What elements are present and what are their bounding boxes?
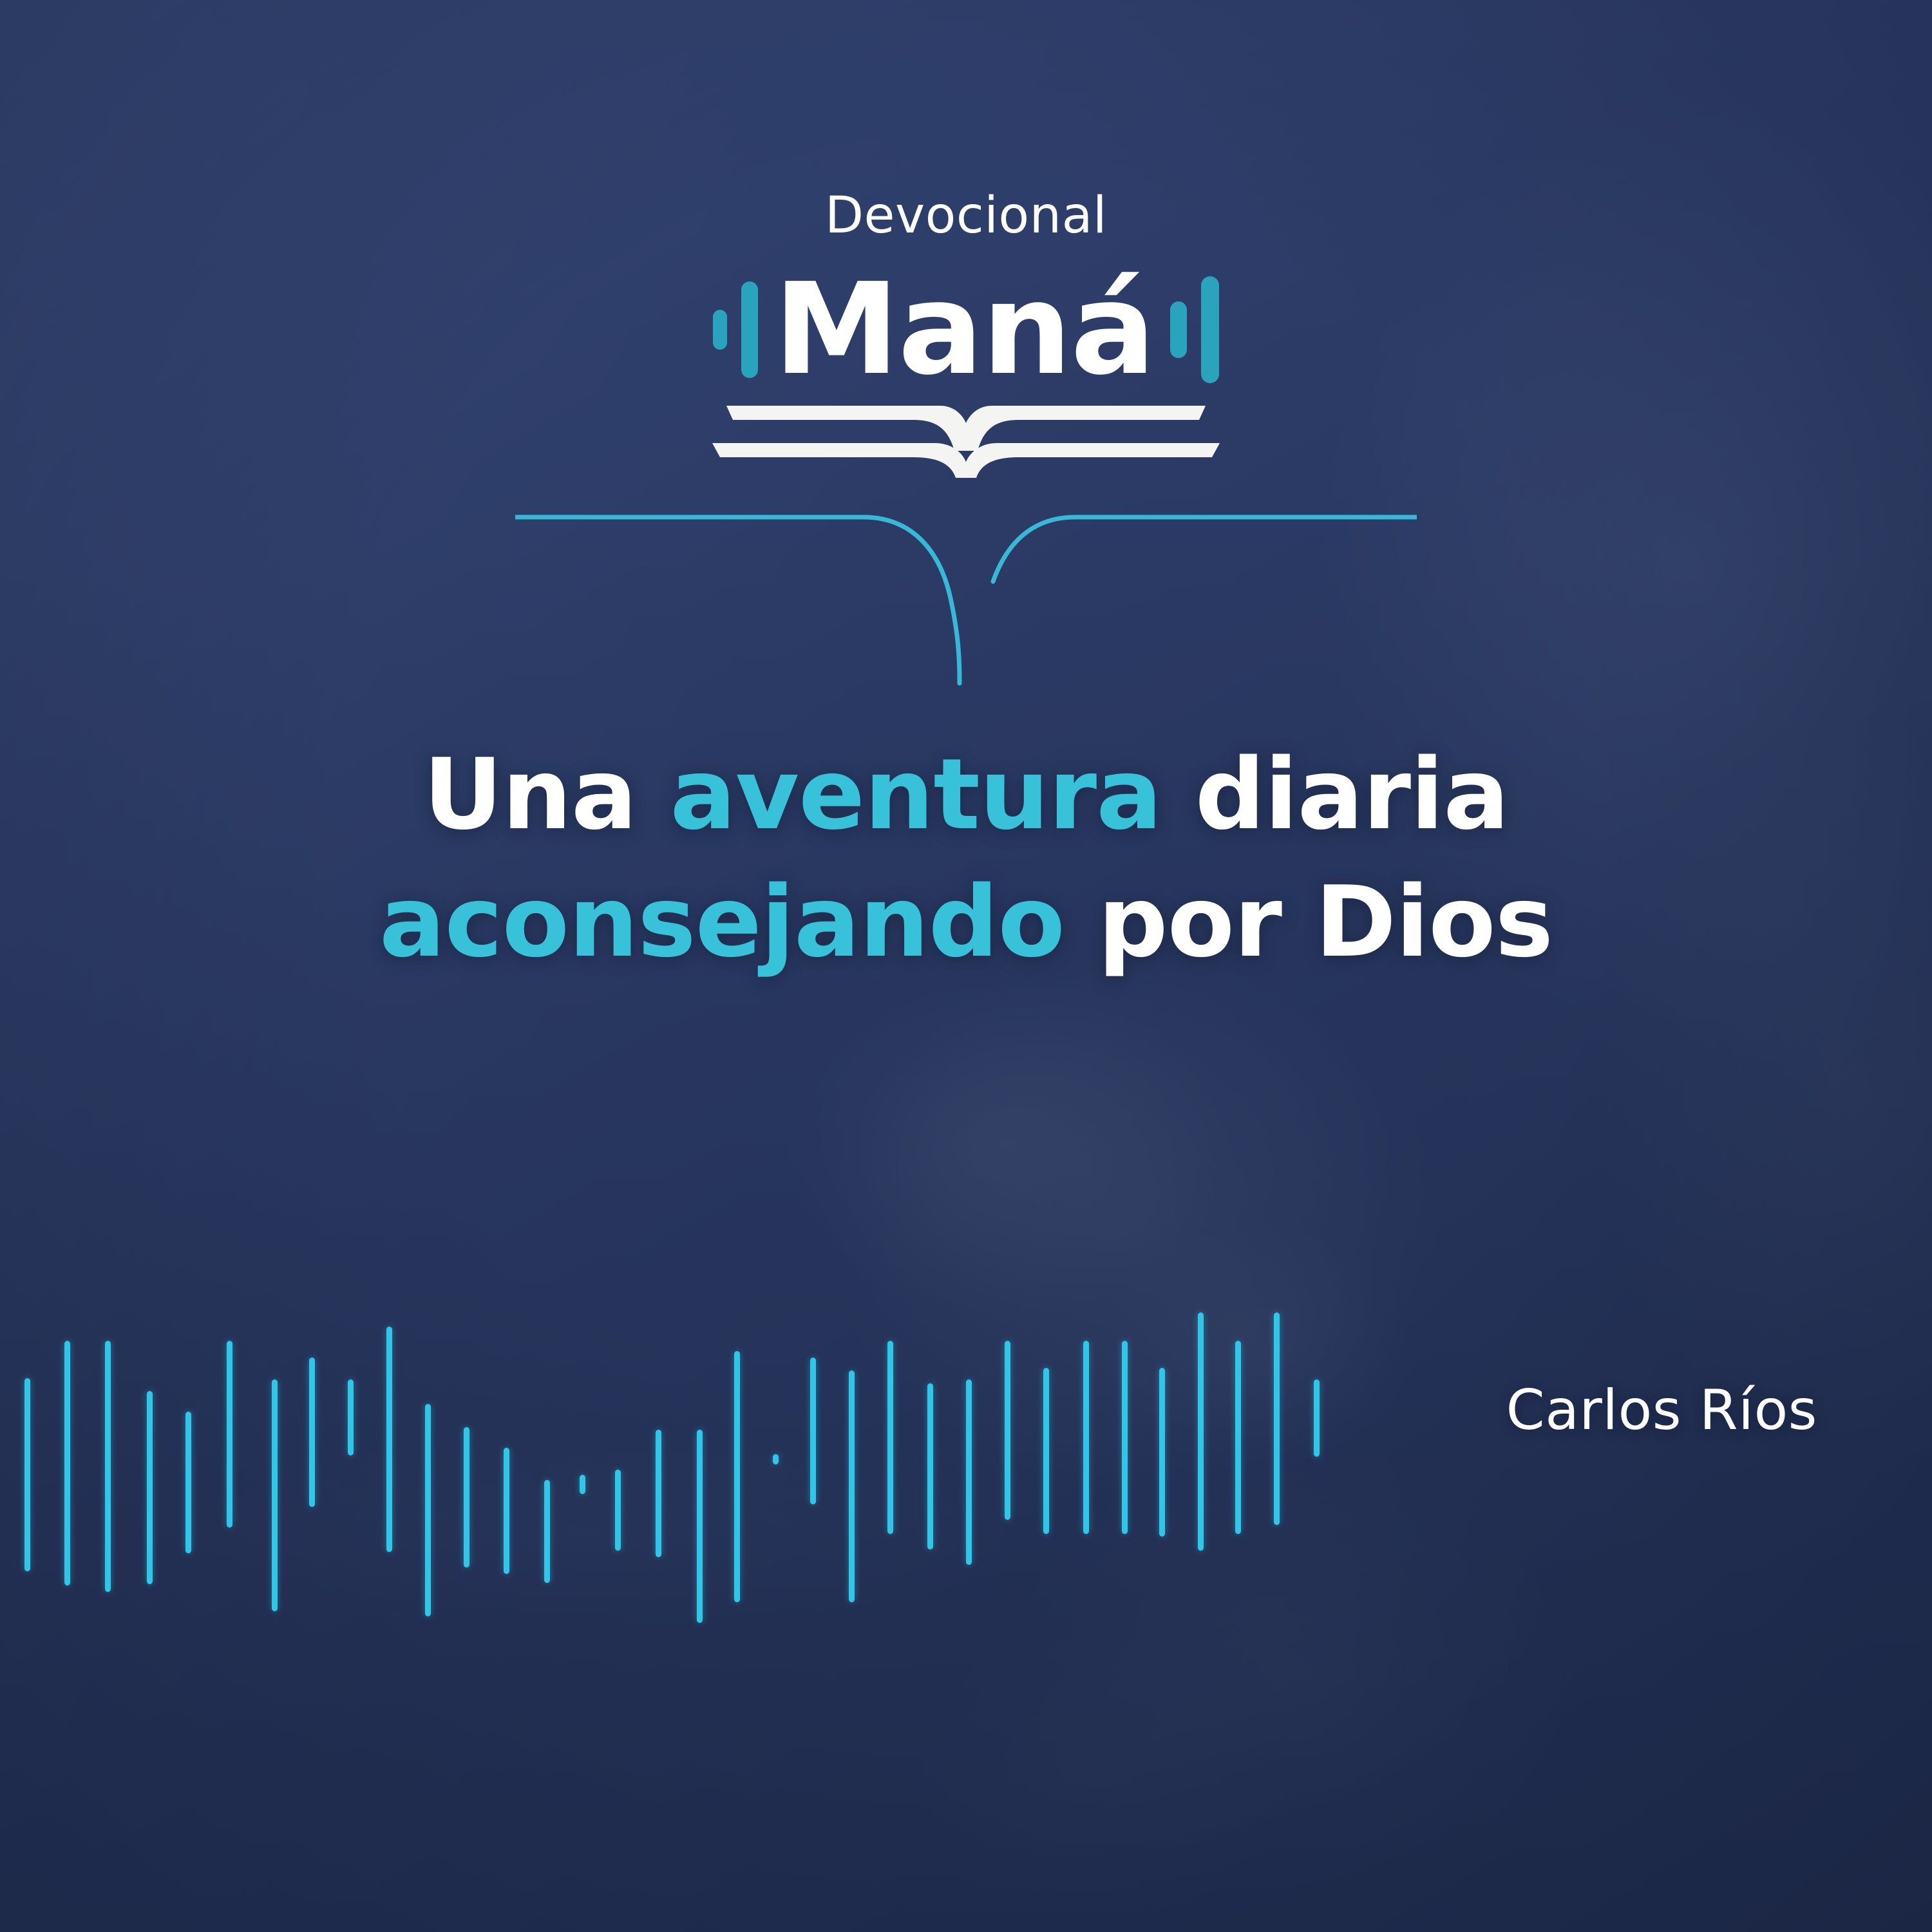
waveform-bar [24, 1378, 30, 1571]
waveform-bar [425, 1404, 431, 1616]
waveform-bar [1235, 1341, 1241, 1534]
waveform-bar [1159, 1368, 1165, 1537]
waveform-bar [1314, 1379, 1320, 1457]
waveform-bar [464, 1427, 469, 1567]
equalizer-bar-icon [741, 281, 758, 378]
waveform-bar [1005, 1341, 1010, 1520]
waveform-bar [966, 1379, 972, 1565]
headline-line-2: aconsejando por Dios [0, 858, 1932, 986]
podcast-cover-poster: Devocional Maná [0, 0, 1932, 1932]
waveform-bar [1043, 1368, 1049, 1534]
headline-word-diaria: diaria [1162, 737, 1509, 851]
waveform-bar [504, 1448, 509, 1574]
waveform-bar [927, 1383, 933, 1549]
waveform-bar [309, 1358, 315, 1507]
headline-accent-aconsejando: aconsejando [379, 865, 1065, 979]
waveform-bar [1198, 1312, 1204, 1551]
waveform-bar [105, 1341, 111, 1592]
headline-accent-aventura: aventura [670, 737, 1161, 851]
brand-kicker: Devocional [0, 191, 1932, 241]
equalizer-bar-icon [713, 310, 727, 350]
waveform-bar [734, 1351, 740, 1602]
waveform-bar [544, 1480, 550, 1583]
waveform-bar [1122, 1341, 1128, 1534]
waveform-bar [272, 1379, 278, 1611]
waveform-bar [810, 1358, 816, 1504]
brand-logo: Devocional Maná [0, 191, 1932, 497]
waveform-bar [348, 1379, 354, 1455]
waveform-bar [773, 1454, 779, 1464]
waveform-bar [1274, 1312, 1280, 1525]
waveform-bar [580, 1475, 585, 1494]
headline-line-1: Una aventura diaria [0, 731, 1932, 858]
waveform-bar [386, 1327, 392, 1552]
waveform-bar [185, 1412, 191, 1553]
author-name: Carlos Ríos [1506, 1378, 1817, 1443]
waveform-bar [697, 1430, 703, 1623]
brand-wordmark: Maná [773, 273, 1154, 386]
audio-waveform-icon [0, 1301, 1391, 1636]
waveform-bar [656, 1430, 661, 1557]
headline-word-por-dios: por Dios [1065, 865, 1553, 979]
open-book-icon [0, 401, 1932, 497]
waveform-bar [615, 1470, 621, 1551]
curved-divider-icon [515, 512, 1417, 686]
headline-word-una: Una [423, 737, 670, 851]
waveform-bar [64, 1341, 70, 1586]
waveform-bar [849, 1370, 855, 1602]
page-title: Una aventura diaria aconsejando por Dios [0, 731, 1932, 985]
equalizer-bar-icon [1201, 276, 1219, 383]
brand-wordmark-row: Maná [0, 263, 1932, 397]
waveform-bar [147, 1391, 153, 1584]
waveform-bar [1083, 1341, 1089, 1534]
waveform-bar [887, 1341, 893, 1534]
waveform-bar [227, 1341, 232, 1528]
equalizer-bar-icon [1170, 301, 1187, 358]
